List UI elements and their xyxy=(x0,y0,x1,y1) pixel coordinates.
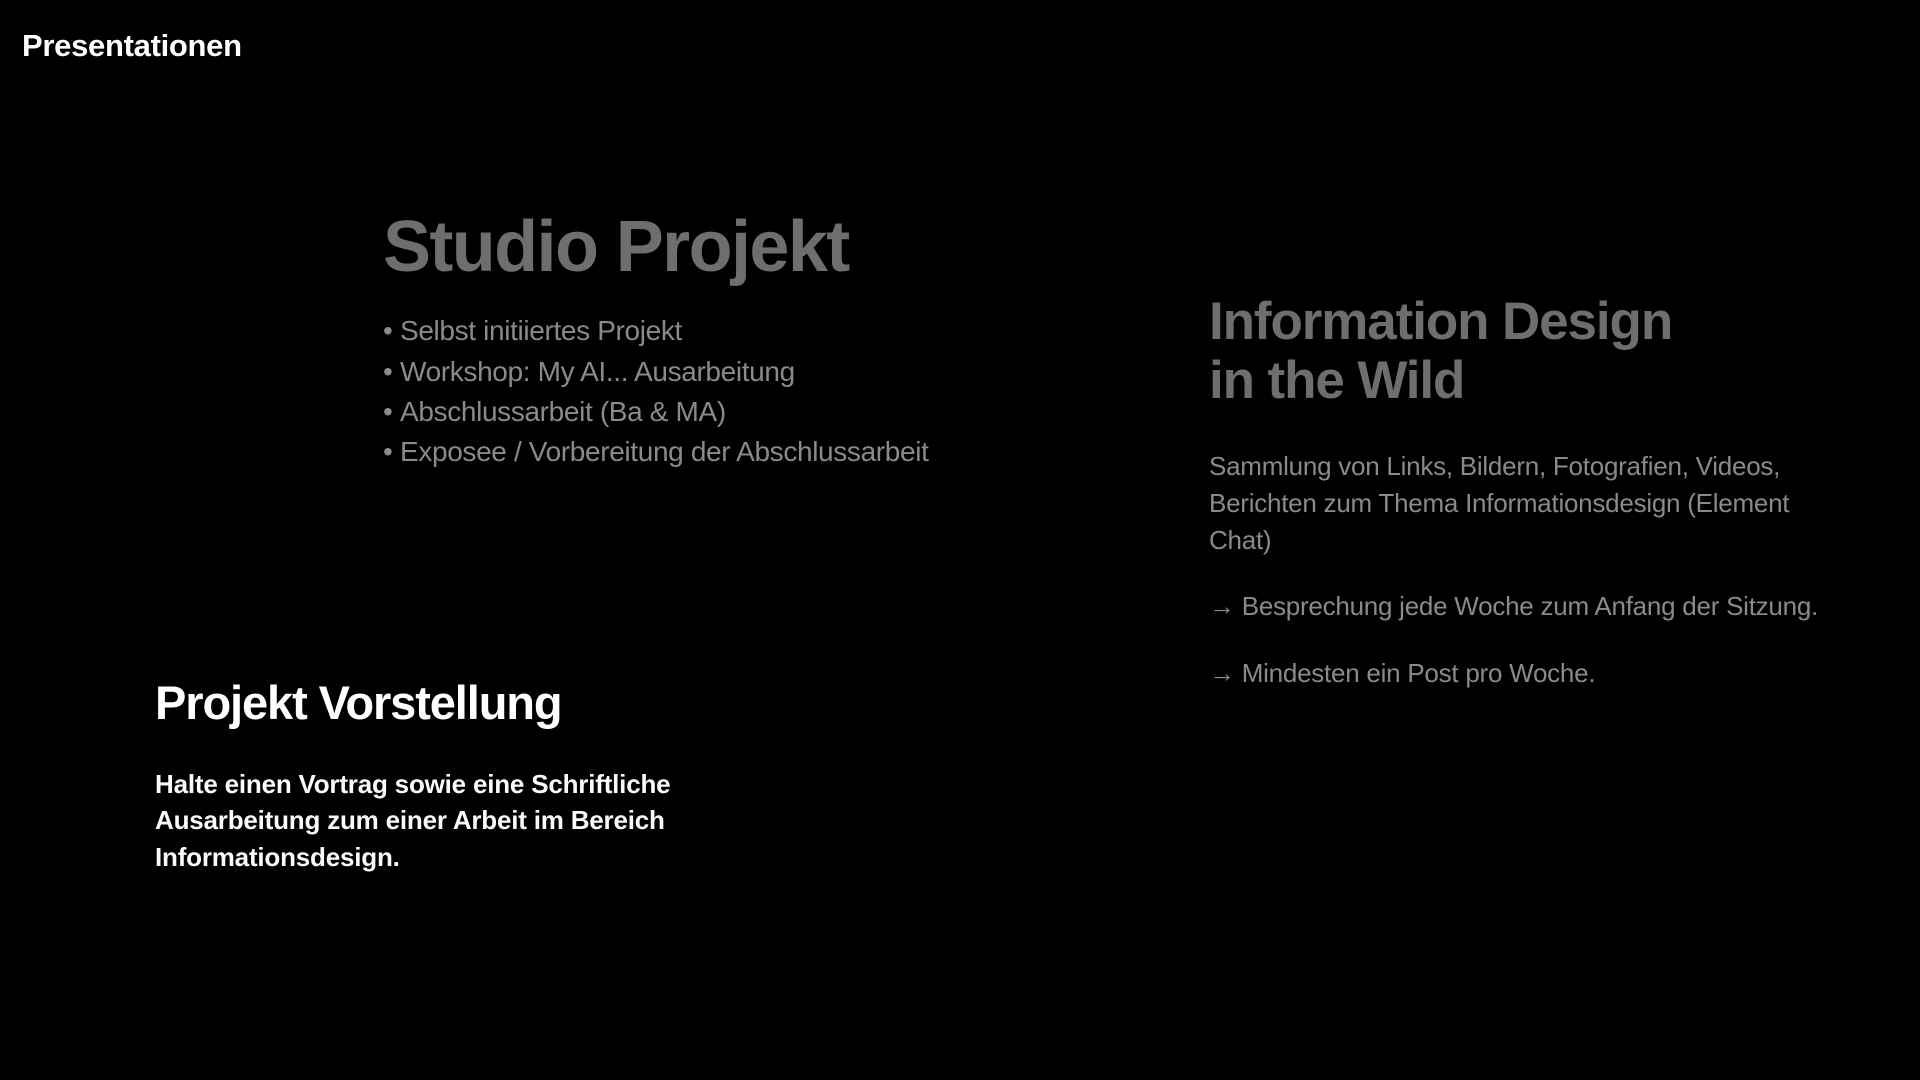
bullet-dot-icon: • xyxy=(383,432,392,472)
list-item: • Workshop: My AI... Ausarbeitung xyxy=(383,352,1083,392)
arrow-right-icon: → xyxy=(1209,658,1235,688)
slide-canvas: Presentationen Studio Projekt • Selbst i… xyxy=(0,0,1920,1080)
section-projekt-vorstellung: Projekt Vorstellung Halte einen Vortrag … xyxy=(155,678,795,875)
information-design-heading-line-2: in the Wild xyxy=(1209,351,1464,410)
list-item-label: Selbst initiiertes Projekt xyxy=(400,315,682,346)
list-item: • Abschlussarbeit (Ba & MA) xyxy=(383,392,1083,432)
list-item: • Selbst initiiertes Projekt xyxy=(383,311,1083,351)
arrow-item-label: Mindesten ein Post pro Woche. xyxy=(1242,658,1596,688)
list-item: • Exposee / Vorbereitung der Abschlussar… xyxy=(383,432,1083,472)
arrow-item-label: Besprechung jede Woche zum Anfang der Si… xyxy=(1242,591,1818,621)
bullet-dot-icon: • xyxy=(383,352,392,392)
information-design-arrow-item: → Besprechung jede Woche zum Anfang der … xyxy=(1209,588,1829,625)
studio-projekt-bullet-list: • Selbst initiiertes Projekt • Workshop:… xyxy=(383,311,1083,472)
bullet-dot-icon: • xyxy=(383,311,392,351)
page-title: Presentationen xyxy=(22,27,242,64)
list-item-label: Exposee / Vorbereitung der Abschlussarbe… xyxy=(400,436,929,467)
bullet-dot-icon: • xyxy=(383,392,392,432)
information-design-heading: Information Design in the Wild xyxy=(1209,292,1829,411)
section-information-design-in-the-wild: Information Design in the Wild Sammlung … xyxy=(1209,292,1829,692)
list-item-label: Workshop: My AI... Ausarbeitung xyxy=(400,356,795,387)
section-studio-projekt: Studio Projekt • Selbst initiiertes Proj… xyxy=(383,209,1083,473)
information-design-lead-paragraph: Sammlung von Links, Bildern, Fotografien… xyxy=(1209,448,1829,559)
list-item-label: Abschlussarbeit (Ba & MA) xyxy=(400,396,726,427)
projekt-vorstellung-paragraph: Halte einen Vortrag sowie eine Schriftli… xyxy=(155,766,795,875)
studio-projekt-heading: Studio Projekt xyxy=(383,209,1083,285)
information-design-arrow-item: → Mindesten ein Post pro Woche. xyxy=(1209,655,1829,692)
information-design-heading-line-1: Information Design xyxy=(1209,292,1672,351)
arrow-right-icon: → xyxy=(1209,591,1235,621)
projekt-vorstellung-heading: Projekt Vorstellung xyxy=(155,678,795,728)
